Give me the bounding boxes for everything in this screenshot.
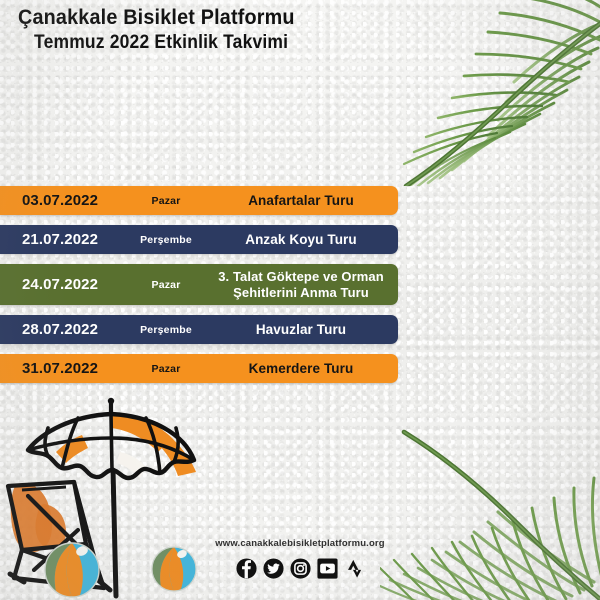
table-row[interactable]: 31.07.2022 Pazar Kemerdere Turu [0, 354, 398, 383]
table-row[interactable]: 24.07.2022 Pazar 3. Talat Göktepe ve Orm… [0, 264, 398, 305]
event-name: Anafartalar Turu [212, 193, 398, 208]
event-day: Pazar [120, 279, 212, 291]
event-date: 24.07.2022 [0, 276, 120, 293]
event-day: Pazar [120, 195, 212, 207]
poster-header: Çanakkale Bisiklet Platformu Temmuz 2022… [18, 4, 319, 55]
event-name: Havuzlar Turu [212, 322, 398, 337]
event-name: Anzak Koyu Turu [212, 232, 398, 247]
event-schedule-list: 03.07.2022 Pazar Anafartalar Turu 21.07.… [0, 186, 400, 393]
twitter-icon[interactable] [263, 558, 284, 579]
social-links [0, 558, 600, 579]
event-name: 3. Talat Göktepe ve Orman Şehitlerini An… [212, 269, 398, 301]
facebook-icon[interactable] [236, 558, 257, 579]
table-row[interactable]: 28.07.2022 Perşembe Havuzlar Turu [0, 315, 398, 344]
table-row[interactable]: 21.07.2022 Perşembe Anzak Koyu Turu [0, 225, 398, 254]
event-day: Pazar [120, 363, 212, 375]
event-date: 21.07.2022 [0, 231, 120, 248]
event-date: 28.07.2022 [0, 321, 120, 338]
event-name: Kemerdere Turu [212, 361, 398, 376]
event-day: Perşembe [120, 324, 212, 336]
table-row[interactable]: 03.07.2022 Pazar Anafartalar Turu [0, 186, 398, 215]
strava-icon[interactable] [344, 558, 365, 579]
event-calendar-poster: Çanakkale Bisiklet Platformu Temmuz 2022… [0, 0, 600, 600]
event-date: 31.07.2022 [0, 360, 120, 377]
event-day: Perşembe [120, 234, 212, 246]
palm-frond-icon [348, 0, 600, 186]
youtube-icon[interactable] [317, 558, 338, 579]
event-date: 03.07.2022 [0, 192, 120, 209]
page-title: Çanakkale Bisiklet Platformu [18, 4, 295, 30]
website-url[interactable]: www.canakkalebisikletplatformu.org [0, 538, 600, 549]
instagram-icon[interactable] [290, 558, 311, 579]
page-subtitle: Temmuz 2022 Etkinlik Takvimi [34, 30, 296, 55]
